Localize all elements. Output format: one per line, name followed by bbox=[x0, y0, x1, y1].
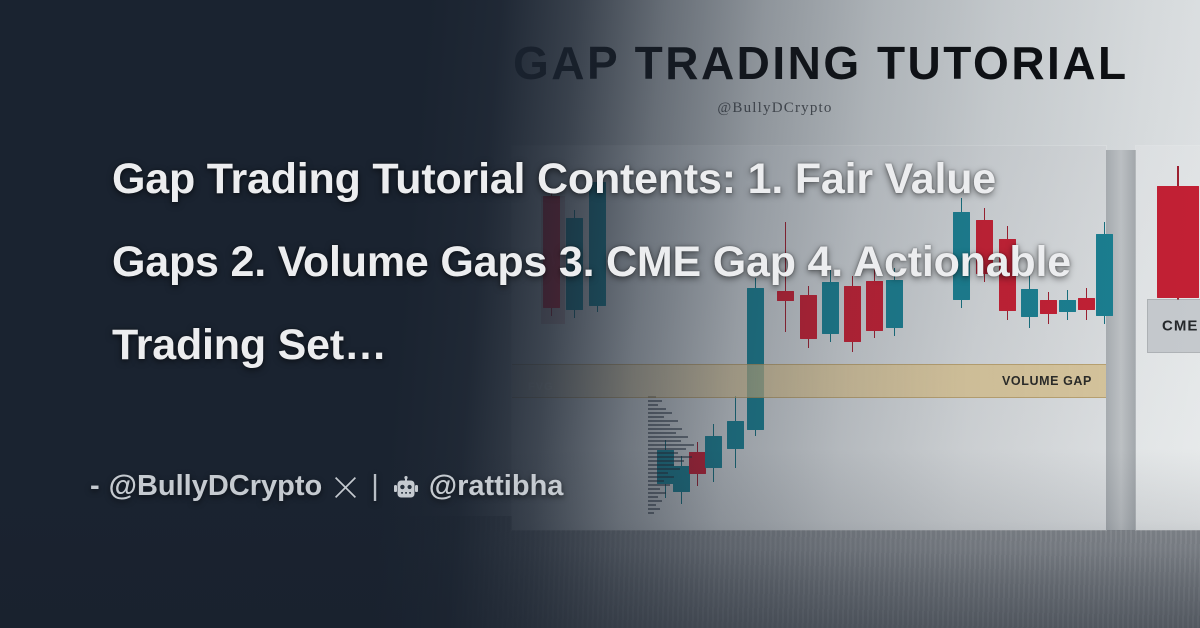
social-share-card: GAP TRADING TUTORIAL @BullyDCrypto VOLUM… bbox=[0, 0, 1200, 628]
card-content: Gap Trading Tutorial Contents: 1. Fair V… bbox=[0, 0, 1200, 628]
x-logo-icon[interactable] bbox=[333, 475, 358, 500]
attribution-separator: | bbox=[371, 470, 379, 503]
robot-icon bbox=[392, 476, 420, 502]
platform-handle[interactable]: @rattibha bbox=[429, 470, 564, 503]
headline-text: Gap Trading Tutorial Contents: 1. Fair V… bbox=[112, 138, 1112, 387]
author-handle[interactable]: @BullyDCrypto bbox=[109, 470, 323, 503]
attribution-line: - @BullyDCrypto | bbox=[90, 470, 563, 503]
attribution-dash: - bbox=[90, 470, 100, 503]
